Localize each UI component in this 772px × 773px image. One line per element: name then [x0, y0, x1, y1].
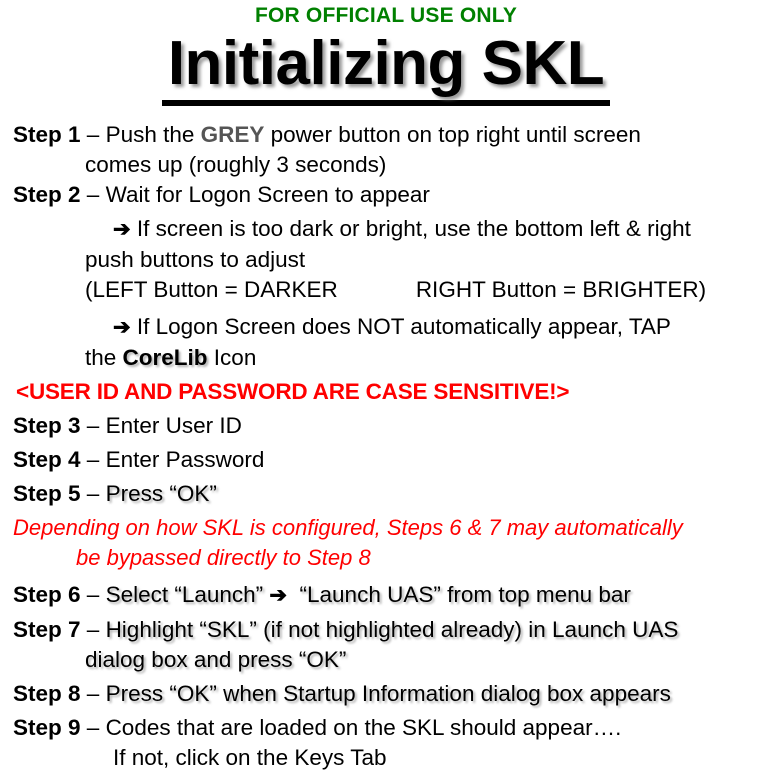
- brightness-paren-left: (LEFT Button = DARKER: [85, 277, 338, 302]
- step-1-continuation: comes up (roughly 3 seconds): [0, 150, 772, 180]
- corelib-note-before: the: [85, 345, 123, 370]
- step-5-text: Press “OK”: [106, 481, 217, 506]
- corelib-note-row2: the CoreLib Icon: [0, 343, 772, 373]
- step-9-continuation: If not, click on the Keys Tab: [0, 743, 772, 773]
- classification-banner: FOR OFFICIAL USE ONLY: [0, 4, 772, 28]
- step-7-dash: –: [81, 617, 106, 642]
- step-2-row: Step 2 – Wait for Logon Screen to appear: [0, 180, 772, 210]
- corelib-note-row: ➔ If Logon Screen does NOT automatically…: [0, 312, 772, 343]
- corelib-app-name: CoreLib: [123, 345, 208, 370]
- step-7-continuation: dialog box and press “OK”: [0, 645, 772, 675]
- instruction-list: Step 1 – Push the GREY power button on t…: [0, 120, 772, 773]
- brightness-paren-row: (LEFT Button = DARKERRIGHT Button = BRIG…: [0, 275, 772, 305]
- step-2-label: Step 2: [13, 182, 81, 207]
- step-6-label: Step 6: [13, 582, 81, 607]
- bypass-note-line2: be bypassed directly to Step 8: [0, 543, 772, 573]
- step-3-label: Step 3: [13, 413, 81, 438]
- step-6-row: Step 6 – Select “Launch” ➔ “Launch UAS” …: [0, 580, 772, 611]
- step-4-label: Step 4: [13, 447, 81, 472]
- step-7-row: Step 7 – Highlight “SKL” (if not highlig…: [0, 615, 772, 645]
- spacer: [0, 573, 772, 580]
- step-1-text-a: Push the: [106, 122, 201, 147]
- right-arrow-icon: ➔: [113, 218, 131, 241]
- step-7-label: Step 7: [13, 617, 81, 642]
- step-6-dash: –: [81, 582, 106, 607]
- right-arrow-icon: ➔: [113, 316, 131, 339]
- step-3-dash: –: [81, 413, 106, 438]
- step-4-dash: –: [81, 447, 106, 472]
- corelib-note-after: Icon: [208, 345, 257, 370]
- bypass-note-line1: Depending on how SKL is configured, Step…: [0, 513, 772, 543]
- step-4-row: Step 4 – Enter Password: [0, 445, 772, 475]
- corelib-note-line1: If Logon Screen does NOT automatically a…: [137, 314, 671, 339]
- step-5-row: Step 5 – Press “OK”: [0, 479, 772, 509]
- title-container: Initializing SKL: [0, 30, 772, 104]
- step-5-label: Step 5: [13, 481, 81, 506]
- step-7-text: Highlight “SKL” (if not highlighted alre…: [106, 617, 679, 642]
- step-6-text-a: Select “Launch”: [106, 582, 270, 607]
- step-3-text: Enter User ID: [106, 413, 242, 438]
- step-4-text: Enter Password: [106, 447, 265, 472]
- page-title: Initializing SKL: [162, 30, 610, 106]
- brightness-note-line2: push buttons to adjust: [0, 245, 772, 275]
- step-8-dash: –: [81, 681, 106, 706]
- step-1-grey-emphasis: GREY: [201, 122, 265, 147]
- step-6-text-b: “Launch UAS” from top menu bar: [287, 582, 631, 607]
- brightness-note-text1: If screen is too dark or bright, use the…: [137, 216, 691, 241]
- step-5-dash: –: [81, 481, 106, 506]
- right-arrow-icon: ➔: [269, 584, 287, 607]
- step-9-label: Step 9: [13, 715, 81, 740]
- step-9-dash: –: [81, 715, 106, 740]
- brightness-note-row: ➔ If screen is too dark or bright, use t…: [0, 214, 772, 245]
- case-sensitive-warning: <USER ID AND PASSWORD ARE CASE SENSITIVE…: [0, 377, 772, 407]
- brightness-paren-right: RIGHT Button = BRIGHTER): [416, 277, 706, 302]
- step-1-text-b: power button on top right until screen: [264, 122, 640, 147]
- step-1-dash: –: [81, 122, 106, 147]
- step-8-text: Press “OK” when Startup Information dial…: [106, 681, 671, 706]
- step-1-label: Step 1: [13, 122, 81, 147]
- step-8-row: Step 8 – Press “OK” when Startup Informa…: [0, 679, 772, 709]
- step-9-row: Step 9 – Codes that are loaded on the SK…: [0, 713, 772, 743]
- step-2-text: Wait for Logon Screen to appear: [106, 182, 430, 207]
- spacer: [0, 305, 772, 312]
- step-1-row: Step 1 – Push the GREY power button on t…: [0, 120, 772, 150]
- step-9-text: Codes that are loaded on the SKL should …: [106, 715, 622, 740]
- step-8-label: Step 8: [13, 681, 81, 706]
- slide-root: { "header": { "classification": "FOR OFF…: [0, 4, 772, 770]
- step-3-row: Step 3 – Enter User ID: [0, 411, 772, 441]
- step-2-dash: –: [81, 182, 106, 207]
